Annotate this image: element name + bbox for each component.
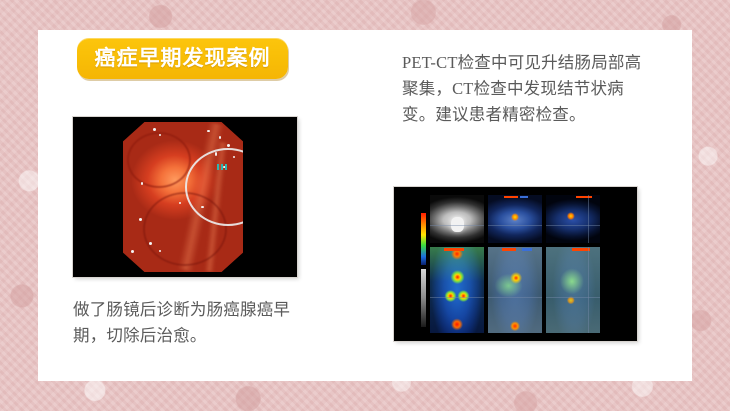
pet-ct-caption: PET-CT检查中可见升结肠局部高聚集，CT检查中发现结节状病变。建议患者精密检… [402, 50, 642, 128]
endoscopy-image [73, 117, 297, 277]
endoscopy-mucosa [123, 122, 243, 272]
pet-panel-axial-fused [488, 195, 542, 243]
endoscopy-specular [179, 202, 181, 204]
endoscopy-specular [219, 136, 221, 139]
slide-root: 癌症早期发现案例 [0, 0, 730, 411]
endoscopy-specular [139, 218, 142, 221]
pet-panel-coronal-fused [488, 247, 542, 333]
pet-panel-coronal-pet [430, 247, 484, 333]
pet-color-scale-bar [421, 213, 426, 265]
endoscopy-vessel [127, 132, 191, 188]
endoscopy-specular [153, 128, 156, 131]
pet-panel-axial-pet [546, 195, 600, 243]
endoscopy-specular [227, 144, 230, 147]
pet-panel-sagittal-fused [546, 247, 600, 333]
endoscopy-specular [131, 250, 134, 253]
endoscopy-specular [159, 250, 161, 252]
endoscopy-caption: 做了肠镜后诊断为肠癌腺癌早期，切除后治愈。 [73, 297, 308, 349]
ct-gray-scale-bar [421, 269, 426, 327]
endoscopy-specular [207, 130, 210, 132]
pet-panel-axial-ct [430, 195, 484, 243]
pet-ct-scan-image [394, 187, 637, 341]
endoscopy-specular [141, 182, 143, 185]
pet-ct-montage [430, 195, 602, 333]
title-badge-label: 癌症早期发现案例 [95, 48, 271, 69]
endoscopy-specular [149, 242, 152, 245]
endoscopy-specular [159, 134, 161, 136]
endoscopy-lesion-annotation-circle [185, 148, 271, 226]
title-badge[interactable]: 癌症早期发现案例 [77, 38, 288, 79]
